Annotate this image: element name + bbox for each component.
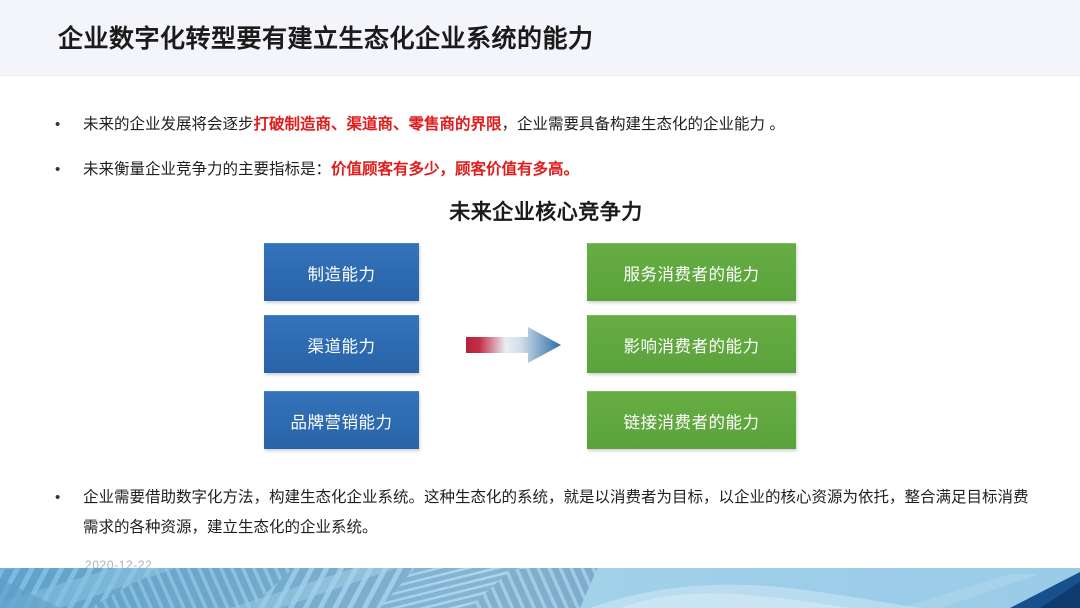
capability-box-serve-consumer[interactable]: 服务消费者的能力 <box>587 243 796 301</box>
capability-box-channel[interactable]: 渠道能力 <box>264 315 419 373</box>
bullet-2-pre: 未来衡量企业竞争力的主要指标是： <box>83 161 331 178</box>
capability-label: 影响消费者的能力 <box>624 333 760 357</box>
transformation-arrow-icon <box>466 326 562 364</box>
bullet-text-1: 未来的企业发展将会逐步打破制造商、渠道商、零售商的界限，企业需要具备构建生态化的… <box>83 110 1045 140</box>
slide-root: 企业数字化转型要有建立生态化企业系统的能力 • 未来的企业发展将会逐步打破制造商… <box>0 0 1080 608</box>
bullet-marker-icon: • <box>55 110 83 140</box>
capability-label: 链接消费者的能力 <box>624 409 760 433</box>
bullet-1-emphasis: 打破制造商、渠道商、零售商的界限 <box>254 116 502 133</box>
capability-label: 制造能力 <box>308 261 376 285</box>
capability-box-manufacturing[interactable]: 制造能力 <box>264 243 419 301</box>
bullet-marker-icon: • <box>55 155 83 185</box>
bullet-text-3: 企业需要借助数字化方法，构建生态化企业系统。这种生态化的系统，就是以消费者为目标… <box>83 483 1040 543</box>
bullet-text-2: 未来衡量企业竞争力的主要指标是：价值顾客有多少，顾客价值有多高。 <box>83 155 1045 185</box>
page-title: 企业数字化转型要有建立生态化企业系统的能力 <box>58 19 594 55</box>
capability-label: 品牌营销能力 <box>291 409 393 433</box>
bullet-marker-icon: • <box>55 483 83 513</box>
bullet-item-1: • 未来的企业发展将会逐步打破制造商、渠道商、零售商的界限，企业需要具备构建生态… <box>55 110 1045 140</box>
capability-label: 渠道能力 <box>308 333 376 357</box>
capability-diagram: 制造能力 渠道能力 品牌营销能力 <box>0 240 1080 455</box>
bullet-1-post: ，企业需要具备构建生态化的企业能力 。 <box>502 116 785 133</box>
diagram-heading: 未来企业核心竞争力 <box>0 196 1080 226</box>
bullet-2-emphasis: 价值顾客有多少，顾客价值有多高。 <box>331 161 579 178</box>
footer-decorative-strip <box>0 568 1080 608</box>
bullet-item-2: • 未来衡量企业竞争力的主要指标是：价值顾客有多少，顾客价值有多高。 <box>55 155 1045 185</box>
capability-label: 服务消费者的能力 <box>624 261 760 285</box>
capability-box-connect-consumer[interactable]: 链接消费者的能力 <box>587 391 796 449</box>
bullet-item-3: • 企业需要借助数字化方法，构建生态化企业系统。这种生态化的系统，就是以消费者为… <box>55 483 1040 543</box>
capability-box-influence-consumer[interactable]: 影响消费者的能力 <box>587 315 796 373</box>
capability-box-brand-marketing[interactable]: 品牌营销能力 <box>264 391 419 449</box>
bullet-1-pre: 未来的企业发展将会逐步 <box>83 116 254 133</box>
